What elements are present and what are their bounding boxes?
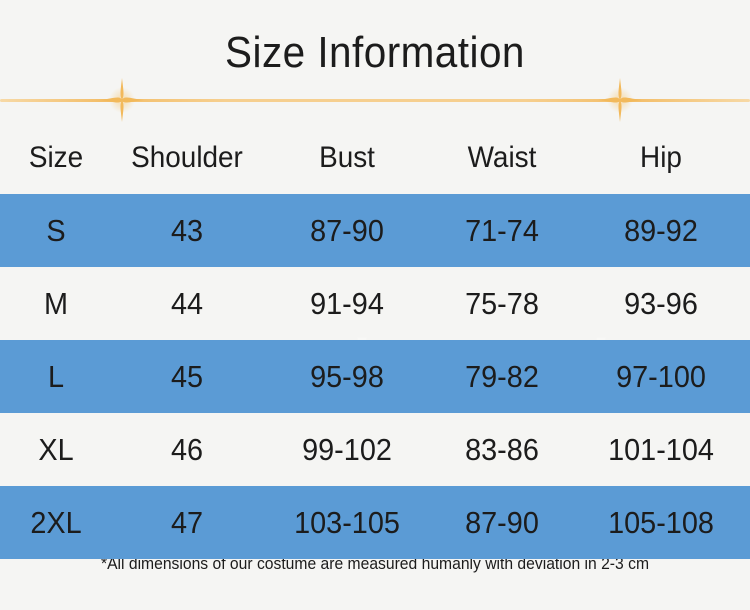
cell-bust: 87-90 bbox=[268, 215, 426, 246]
cell-bust: 99-102 bbox=[268, 434, 426, 465]
cell-size: S bbox=[4, 215, 108, 246]
cell-bust: 95-98 bbox=[268, 361, 426, 392]
column-header-waist: Waist bbox=[437, 143, 567, 173]
table-row: 2XL 47 103-105 87-90 105-108 bbox=[0, 486, 750, 559]
cell-size: L bbox=[4, 361, 108, 392]
cell-shoulder: 47 bbox=[117, 507, 257, 538]
cell-hip: 89-92 bbox=[578, 215, 744, 246]
cell-hip: 101-104 bbox=[578, 434, 744, 465]
cell-bust: 103-105 bbox=[268, 507, 426, 538]
table-row: S 43 87-90 71-74 89-92 bbox=[0, 194, 750, 267]
table-row: M 44 91-94 75-78 93-96 bbox=[0, 267, 750, 340]
cell-waist: 71-74 bbox=[437, 215, 567, 246]
cell-shoulder: 46 bbox=[117, 434, 257, 465]
cell-waist: 75-78 bbox=[437, 288, 567, 319]
column-header-shoulder: Shoulder bbox=[117, 143, 257, 173]
table-row: L 45 95-98 79-82 97-100 bbox=[0, 340, 750, 413]
size-table: Size Shoulder Bust Waist Hip S 43 87-90 … bbox=[0, 122, 750, 559]
cell-shoulder: 45 bbox=[117, 361, 257, 392]
sparkle-icon bbox=[98, 76, 146, 124]
table-row: XL 46 99-102 83-86 101-104 bbox=[0, 413, 750, 486]
column-header-bust: Bust bbox=[268, 143, 426, 173]
cell-hip: 105-108 bbox=[578, 507, 744, 538]
sparkle-icon bbox=[596, 76, 644, 124]
cell-hip: 97-100 bbox=[578, 361, 744, 392]
cell-waist: 83-86 bbox=[437, 434, 567, 465]
cell-shoulder: 43 bbox=[117, 215, 257, 246]
title-area: Size Information bbox=[0, 22, 750, 84]
column-header-hip: Hip bbox=[578, 143, 744, 173]
cell-size: XL bbox=[4, 434, 108, 465]
cell-waist: 79-82 bbox=[437, 361, 567, 392]
column-header-size: Size bbox=[4, 143, 108, 173]
cell-size: 2XL bbox=[4, 507, 108, 538]
decorative-divider bbox=[0, 96, 750, 105]
cell-bust: 91-94 bbox=[268, 288, 426, 319]
cell-shoulder: 44 bbox=[117, 288, 257, 319]
table-header-row: Size Shoulder Bust Waist Hip bbox=[0, 122, 750, 194]
cell-hip: 93-96 bbox=[578, 288, 744, 319]
size-chart-sheet: Size Information bbox=[0, 0, 750, 610]
cell-size: M bbox=[4, 288, 108, 319]
page-title: Size Information bbox=[225, 31, 525, 75]
cell-waist: 87-90 bbox=[437, 507, 567, 538]
